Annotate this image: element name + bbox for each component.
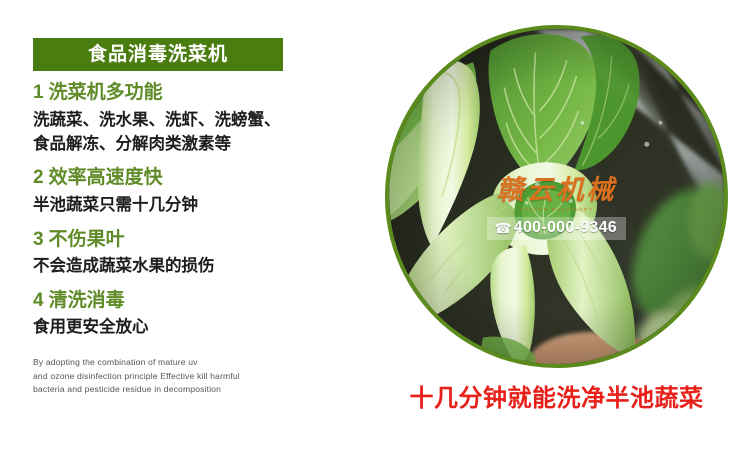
feature-heading-1: 1洗菜机多功能 <box>33 80 333 106</box>
product-title-bar: 食品消毒洗菜机 <box>33 38 283 71</box>
feature-title-4: 清洗消毒 <box>49 290 125 311</box>
product-photo-circle: 赣云机械 GANYUN MACHINERY ☎400-000-9346 <box>385 25 728 368</box>
product-title: 食品消毒洗菜机 <box>88 45 228 64</box>
english-description: By adopting the combination of mature uv… <box>33 356 283 398</box>
vegetable-photo-illustration <box>389 29 724 364</box>
feature-number-2: 2 <box>33 167 44 188</box>
left-content-panel: 食品消毒洗菜机 1洗菜机多功能 洗蔬菜、洗水果、洗虾、洗螃蟹、 食品解冻、分解肉… <box>33 38 333 397</box>
english-line: By adopting the combination of mature uv <box>33 356 283 370</box>
feature-block-1: 1洗菜机多功能 洗蔬菜、洗水果、洗虾、洗螃蟹、 食品解冻、分解肉类激素等 <box>33 80 333 156</box>
feature-block-3: 3不伤果叶 不会造成蔬菜水果的损伤 <box>33 227 333 279</box>
feature-number-3: 3 <box>33 229 44 250</box>
feature-body-line: 食品解冻、分解肉类激素等 <box>33 132 333 156</box>
feature-title-3: 不伤果叶 <box>49 229 125 250</box>
bok-choy-vegetable-photo: 赣云机械 GANYUN MACHINERY ☎400-000-9346 <box>389 29 724 364</box>
feature-heading-4: 4清洗消毒 <box>33 288 333 314</box>
feature-title-2: 效率高速度快 <box>49 167 163 188</box>
feature-block-2: 2效率高速度快 半池蔬菜只需十几分钟 <box>33 165 333 217</box>
english-line: bacteria and pesticide residue in decomp… <box>33 383 283 397</box>
feature-body-line: 食用更安全放心 <box>33 315 333 339</box>
feature-body-line: 洗蔬菜、洗水果、洗虾、洗螃蟹、 <box>33 108 333 132</box>
feature-number-4: 4 <box>33 290 44 311</box>
feature-body-1: 洗蔬菜、洗水果、洗虾、洗螃蟹、 食品解冻、分解肉类激素等 <box>33 108 333 157</box>
english-line: and ozone disinfection principle Effecti… <box>33 370 283 384</box>
feature-number-1: 1 <box>33 82 44 103</box>
feature-body-line: 半池蔬菜只需十几分钟 <box>33 193 333 217</box>
feature-body-4: 食用更安全放心 <box>33 315 333 339</box>
feature-heading-3: 3不伤果叶 <box>33 227 333 253</box>
feature-block-4: 4清洗消毒 食用更安全放心 <box>33 288 333 340</box>
feature-body-2: 半池蔬菜只需十几分钟 <box>33 193 333 217</box>
red-caption: 十几分钟就能洗净半池蔬菜 <box>385 378 728 413</box>
feature-body-line: 不会造成蔬菜水果的损伤 <box>33 254 333 278</box>
feature-body-3: 不会造成蔬菜水果的损伤 <box>33 254 333 278</box>
feature-heading-2: 2效率高速度快 <box>33 165 333 191</box>
feature-title-1: 洗菜机多功能 <box>49 82 163 103</box>
promo-graphic: 食品消毒洗菜机 1洗菜机多功能 洗蔬菜、洗水果、洗虾、洗螃蟹、 食品解冻、分解肉… <box>0 0 750 470</box>
